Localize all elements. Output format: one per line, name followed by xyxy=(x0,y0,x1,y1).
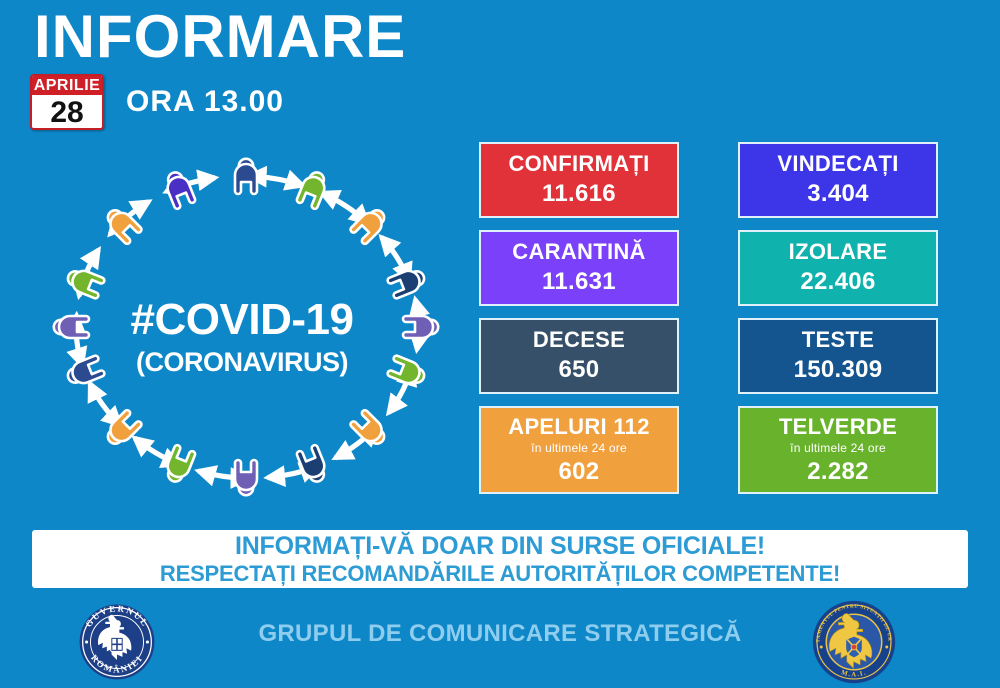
stat-label-confirmati: CONFIRMAȚI xyxy=(508,150,649,178)
banner-line-1: INFORMAȚI-VĂ DOAR DIN SURSE OFICIALE! xyxy=(235,532,765,561)
stat-value-apeluri-112: 602 xyxy=(559,456,600,488)
date-time-bar: APRILIE 28 ORA 13.00 xyxy=(30,74,284,130)
statistics-grid: CONFIRMAȚI 11.616 VINDECAȚI 3.404 CARANT… xyxy=(479,142,939,494)
stat-box-apeluri-112: APELURI 112 în ultimele 24 ore 602 xyxy=(479,406,679,494)
stat-box-decese: DECESE 650 xyxy=(479,318,679,394)
stat-box-izolare: IZOLARE 22.406 xyxy=(738,230,938,306)
header: INFORMARE APRILIE 28 ORA 13.00 xyxy=(0,0,1000,135)
stat-box-carantina: CARANTINĂ 11.631 xyxy=(479,230,679,306)
stat-value-izolare: 22.406 xyxy=(800,266,875,298)
hour-label: ORA 13.00 xyxy=(126,85,284,119)
stat-box-teste: TESTE 150.309 xyxy=(738,318,938,394)
page-title: INFORMARE xyxy=(34,4,406,70)
stat-label-telverde: TELVERDE xyxy=(779,413,897,441)
stat-label-izolare: IZOLARE xyxy=(789,238,888,266)
stat-box-vindecati: VINDECAȚI 3.404 xyxy=(738,142,938,218)
calendar-month-label: APRILIE xyxy=(32,76,102,96)
banner-line-2: RESPECTAȚI RECOMANDĂRILE AUTORITĂȚILOR C… xyxy=(160,561,840,587)
stat-value-telverde: 2.282 xyxy=(807,456,869,488)
stat-label-apeluri-112: APELURI 112 xyxy=(508,413,649,441)
departamentul-situatii-urgenta-seal-icon: DEPARTAMENTUL PENTRU SITUAȚII DE URGENȚĂ… xyxy=(812,600,896,684)
footer: GUVERNUL ROMÂNIEI GRUPUL DE COMUNICARE S… xyxy=(0,596,1000,688)
covid-circle-illustration: #COVID-19 (CORONAVIRUS) xyxy=(22,155,462,525)
stat-value-vindecati: 3.404 xyxy=(807,178,869,210)
people-circle-graphic xyxy=(22,155,462,525)
stat-box-confirmati: CONFIRMAȚI 11.616 xyxy=(479,142,679,218)
stat-label-teste: TESTE xyxy=(802,326,874,354)
stat-value-teste: 150.309 xyxy=(794,354,883,386)
stat-value-confirmati: 11.616 xyxy=(542,178,616,210)
calendar-icon: APRILIE 28 xyxy=(30,74,104,130)
stat-label-carantina: CARANTINĂ xyxy=(512,238,645,266)
stat-value-carantina: 11.631 xyxy=(542,266,616,298)
calendar-day-label: 28 xyxy=(32,96,102,129)
stat-label-decese: DECESE xyxy=(533,326,625,354)
stat-label-vindecati: VINDECAȚI xyxy=(777,150,898,178)
stat-note-telverde: în ultimele 24 ore xyxy=(790,441,886,456)
person-figures xyxy=(54,159,438,495)
stat-note-apeluri-112: în ultimele 24 ore xyxy=(531,441,627,456)
stat-value-decese: 650 xyxy=(559,354,600,386)
official-sources-banner: INFORMAȚI-VĂ DOAR DIN SURSE OFICIALE! RE… xyxy=(32,530,968,588)
stat-box-telverde: TELVERDE în ultimele 24 ore 2.282 xyxy=(738,406,938,494)
